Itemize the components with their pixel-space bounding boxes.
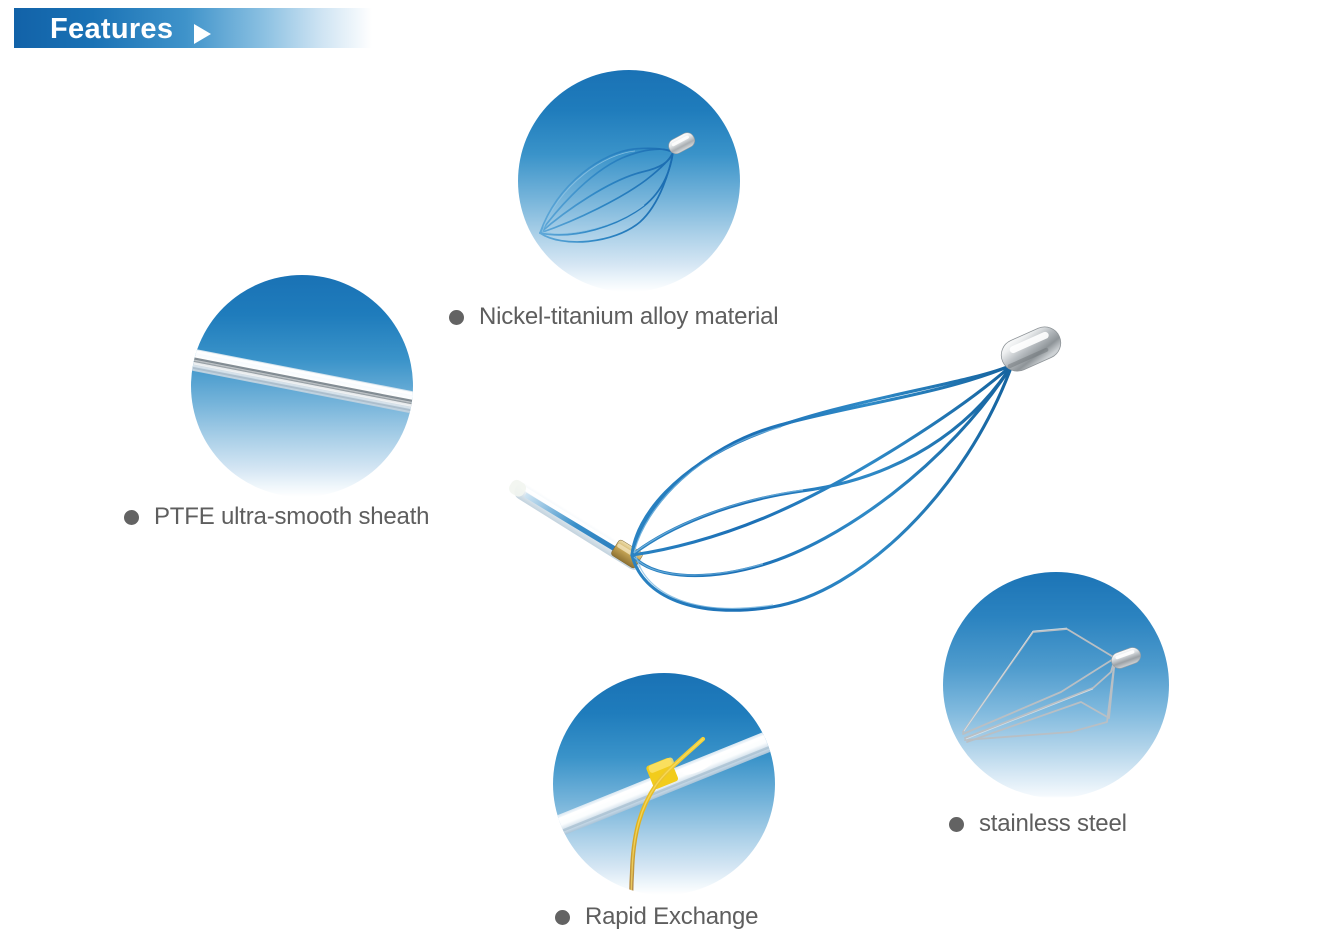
feature-label-text: Rapid Exchange [585, 903, 758, 931]
nitinol-wires [632, 365, 1012, 610]
rapid-exchange-illustration [553, 673, 775, 895]
rapid-exchange-port-photo [553, 673, 775, 895]
bullet-icon [555, 910, 570, 925]
nitinol-retrieval-basket-device [400, 315, 1140, 665]
triangle-right-icon [194, 24, 211, 44]
bullet-icon [124, 510, 139, 525]
ptfe-sheath-illustration [191, 275, 413, 497]
feature-label-text: stainless steel [979, 810, 1127, 838]
nitinol-basket-photo [518, 70, 740, 292]
nitinol-basket-illustration [518, 70, 740, 292]
feature-label-text: Nickel-titanium alloy material [479, 303, 778, 331]
wire-highlights [634, 427, 803, 608]
feature-label-ptfe: PTFE ultra-smooth sheath [124, 503, 429, 531]
feature-page: Features [0, 0, 1320, 935]
features-banner: Features [14, 8, 372, 48]
feature-label-text: PTFE ultra-smooth sheath [154, 503, 429, 531]
metal-tip [666, 130, 697, 156]
bullet-icon [449, 310, 464, 325]
feature-label-steel: stainless steel [949, 810, 1127, 838]
hero-device-illustration [400, 315, 1140, 665]
bullet-icon [949, 817, 964, 832]
feature-label-rapid: Rapid Exchange [555, 903, 758, 931]
ptfe-sheath-photo [191, 275, 413, 497]
feature-label-nickel: Nickel-titanium alloy material [449, 303, 778, 331]
page-title: Features [50, 15, 173, 43]
